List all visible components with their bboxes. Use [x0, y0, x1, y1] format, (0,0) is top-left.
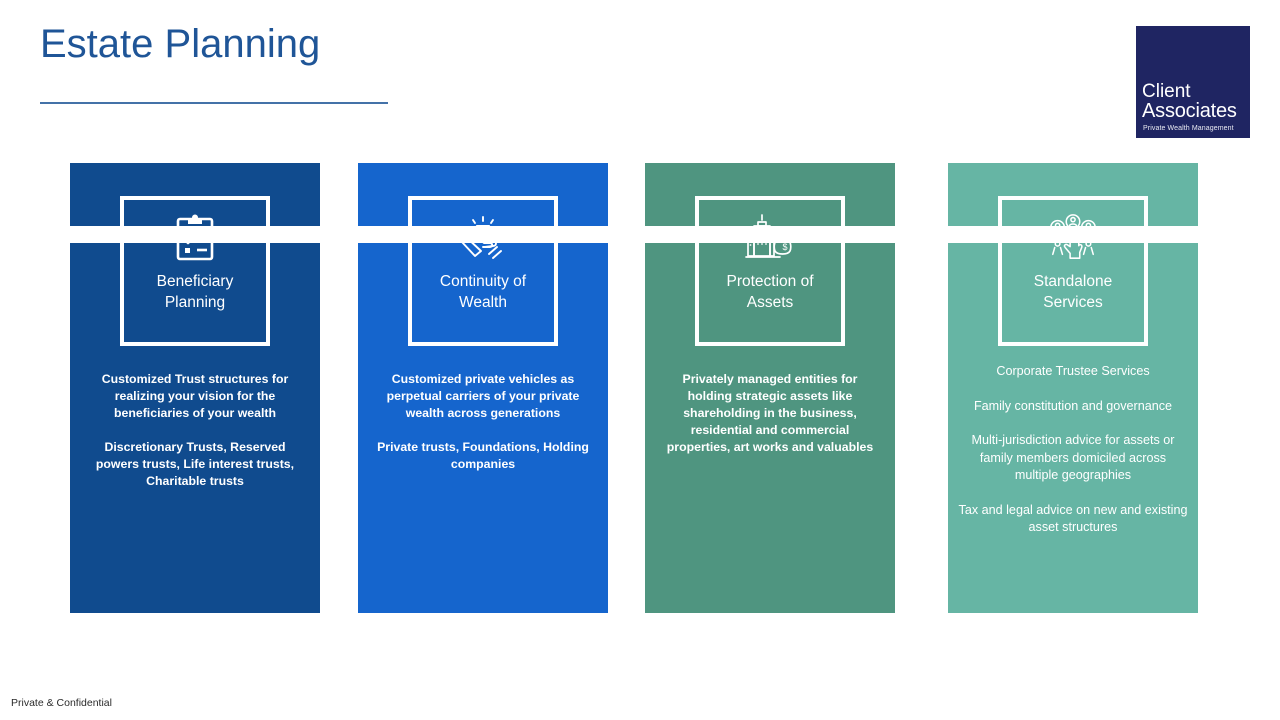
card-icon-frame: Beneficiary Planning [120, 196, 270, 346]
card-icon-frame: Standalone Services [998, 196, 1148, 346]
logo-line-1: Client [1142, 82, 1250, 101]
service-cards-row: Beneficiary Planning Customized Trust st… [70, 163, 1200, 613]
page-title: Estate Planning [40, 22, 350, 66]
company-logo: Client Associates Private Wealth Managem… [1136, 26, 1250, 138]
card-paragraph: Tax and legal advice on new and existing… [958, 502, 1188, 537]
buildings-money-bag-icon: $ [744, 211, 796, 263]
card-protection-of-assets[interactable]: $ Protection of Assets Privately managed… [645, 163, 895, 613]
logo-tagline: Private Wealth Management [1143, 124, 1234, 133]
card-beneficiary-planning[interactable]: Beneficiary Planning Customized Trust st… [70, 163, 320, 613]
slide-canvas: Estate Planning Client Associates Privat… [0, 0, 1280, 720]
card-paragraph: Family constitution and governance [958, 398, 1188, 416]
card-paragraph: Customized Trust structures for realizin… [86, 371, 304, 422]
card-icon-frame: $ Protection of Assets [695, 196, 845, 346]
card-heading: Protection of Assets [699, 271, 841, 313]
title-underline-rule [40, 102, 388, 104]
card-heading: Standalone Services [1002, 271, 1144, 313]
clipboard-checklist-icon [169, 211, 221, 263]
card-paragraph: Customized private vehicles as perpetual… [374, 371, 592, 422]
logo-wordmark: Client Associates [1142, 82, 1250, 122]
card-body-text: Customized private vehicles as perpetual… [358, 371, 608, 473]
page-title-block: Estate Planning [40, 22, 350, 66]
confidentiality-footer: Private & Confidential [11, 697, 112, 709]
card-body-text: Customized Trust structures for realizin… [70, 371, 320, 490]
svg-text:$: $ [783, 242, 788, 252]
card-continuity-of-wealth[interactable]: Continuity of Wealth Customized private … [358, 163, 608, 613]
card-heading: Beneficiary Planning [124, 271, 266, 313]
card-paragraph: Corporate Trustee Services [958, 363, 1188, 381]
card-paragraph: Discretionary Trusts, Reserved powers tr… [86, 439, 304, 490]
card-paragraph: Privately managed entities for holding s… [661, 371, 879, 456]
hand-holding-diamond-icon [457, 211, 509, 263]
card-standalone-services[interactable]: Standalone Services Corporate Trustee Se… [948, 163, 1198, 613]
card-paragraph: Private trusts, Foundations, Holding com… [374, 439, 592, 473]
card-heading: Continuity of Wealth [412, 271, 554, 313]
card-body-text: Corporate Trustee Services Family consti… [948, 363, 1198, 554]
card-icon-frame: Continuity of Wealth [408, 196, 558, 346]
card-paragraph: Multi-jurisdiction advice for assets or … [958, 432, 1188, 485]
card-body-text: Privately managed entities for holding s… [645, 371, 895, 456]
logo-line-2: Associates [1142, 101, 1250, 122]
people-selection-icon [1047, 211, 1099, 263]
